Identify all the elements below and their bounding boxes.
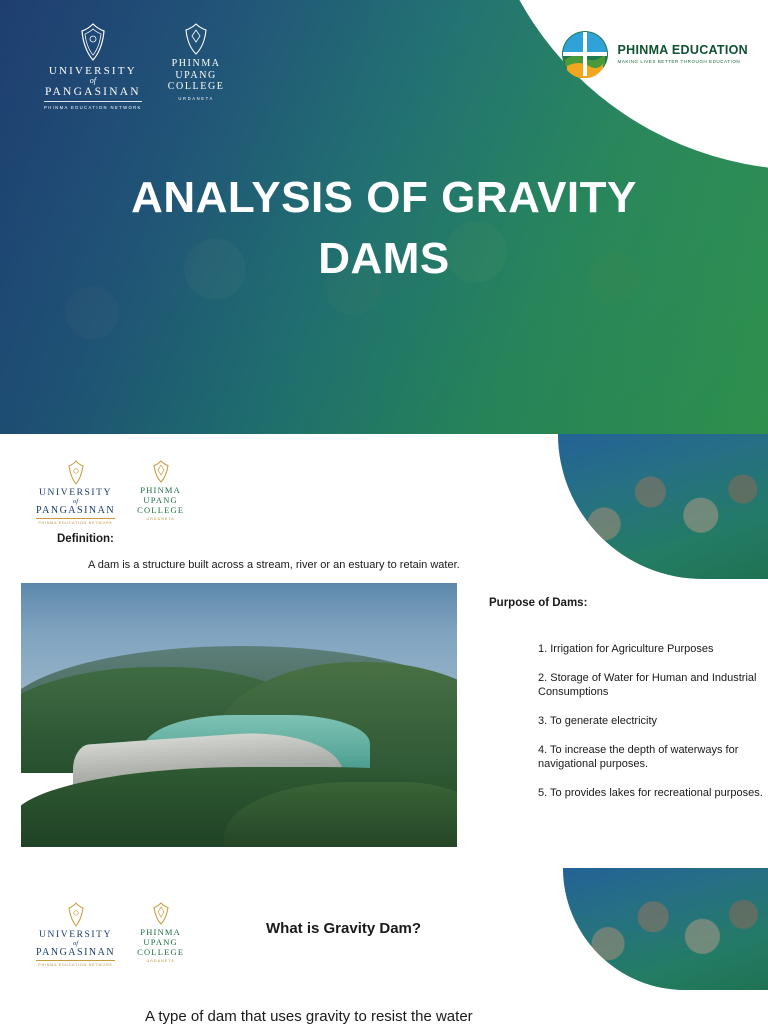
slide1-title: ANALYSIS OF GRAVITY DAMS — [0, 168, 768, 289]
university-logo-line2: of — [36, 940, 115, 947]
purpose-of-dams-list: 1. Irrigation for Agriculture Purposes 2… — [498, 642, 768, 814]
slide1-logo-group: UNIVERSITY of PANGASINAN PHINMA EDUCATIO… — [44, 22, 224, 110]
college-logo-tagline: URDANETA — [137, 517, 184, 521]
phinma-education-logo: PHINMA EDUCATION MAKING LIVES BETTER THR… — [561, 30, 749, 78]
university-logo-line2: of — [36, 498, 115, 505]
university-logo-line1: UNIVERSITY — [36, 488, 115, 498]
college-logo-line1: PHINMA — [168, 58, 225, 70]
slide2-logo-group: UNIVERSITY of PANGASINAN PHINMA EDUCATIO… — [36, 460, 184, 525]
gravity-dam-heading: What is Gravity Dam? — [266, 920, 421, 937]
slide3-university-logo: UNIVERSITY of PANGASINAN PHINMA EDUCATIO… — [36, 902, 115, 967]
list-item: 1. Irrigation for Agriculture Purposes — [538, 642, 768, 657]
college-crest-icon — [151, 460, 171, 484]
list-item: 3. To generate electricity — [538, 714, 768, 729]
slide2-college-logo: PHINMA UPANG COLLEGE URDANETA — [137, 460, 184, 521]
college-crest-icon — [151, 902, 171, 926]
university-logo-line1: UNIVERSITY — [36, 930, 115, 940]
university-crest-icon — [65, 902, 87, 928]
college-logo-line3: COLLEGE — [137, 506, 184, 516]
college-logo-line3: COLLEGE — [168, 81, 225, 93]
slide2-corner-photo-overlay — [558, 434, 768, 579]
phinma-mark-icon — [561, 30, 609, 78]
university-logo-line3: PANGASINAN — [36, 505, 115, 519]
phinma-upang-college-logo: PHINMA UPANG COLLEGE URDANETA — [168, 22, 225, 101]
university-logo-line2: of — [44, 77, 142, 86]
gravity-dam-body-text: A type of dam that uses gravity to resis… — [145, 1006, 635, 1029]
phinma-education-title: PHINMA EDUCATION — [618, 44, 749, 58]
college-logo-tagline: URDANETA — [168, 96, 225, 101]
slide3-corner-photo — [563, 868, 768, 990]
phinma-education-wordmark: PHINMA EDUCATION MAKING LIVES BETTER THR… — [618, 44, 749, 65]
university-crest-icon — [65, 460, 87, 486]
slide-title: UNIVERSITY of PANGASINAN PHINMA EDUCATIO… — [0, 0, 768, 434]
slide3-logo-group: UNIVERSITY of PANGASINAN PHINMA EDUCATIO… — [36, 902, 184, 967]
phinma-education-tagline: MAKING LIVES BETTER THROUGH EDUCATION — [618, 59, 749, 64]
slide3-corner-photo-overlay — [563, 868, 768, 990]
definition-label: Definition: — [57, 533, 114, 545]
list-item: 4. To increase the depth of waterways fo… — [538, 743, 768, 772]
college-logo-tagline: URDANETA — [137, 959, 184, 963]
university-crest-icon — [76, 22, 110, 62]
slide2-corner-photo — [558, 434, 768, 579]
definition-text: A dam is a structure built across a stre… — [88, 559, 460, 571]
college-logo-line2: UPANG — [168, 70, 225, 82]
slide3-college-logo: PHINMA UPANG COLLEGE URDANETA — [137, 902, 184, 963]
list-item: 5. To provides lakes for recreational pu… — [538, 786, 768, 801]
university-logo-tagline: PHINMA EDUCATION NETWORK — [36, 963, 115, 967]
university-logo-tagline: PHINMA EDUCATION NETWORK — [44, 105, 142, 110]
university-logo-tagline: PHINMA EDUCATION NETWORK — [36, 521, 115, 525]
list-item: 2. Storage of Water for Human and Indust… — [538, 671, 768, 700]
university-logo-line3: PANGASINAN — [44, 86, 142, 102]
university-logo-line3: PANGASINAN — [36, 947, 115, 961]
college-crest-icon — [181, 22, 211, 56]
purpose-of-dams-title: Purpose of Dams: — [489, 597, 587, 609]
slide2-university-logo: UNIVERSITY of PANGASINAN PHINMA EDUCATIO… — [36, 460, 115, 525]
dam-photograph — [21, 583, 457, 847]
university-of-pangasinan-logo: UNIVERSITY of PANGASINAN PHINMA EDUCATIO… — [44, 22, 142, 110]
college-logo-line3: COLLEGE — [137, 948, 184, 958]
